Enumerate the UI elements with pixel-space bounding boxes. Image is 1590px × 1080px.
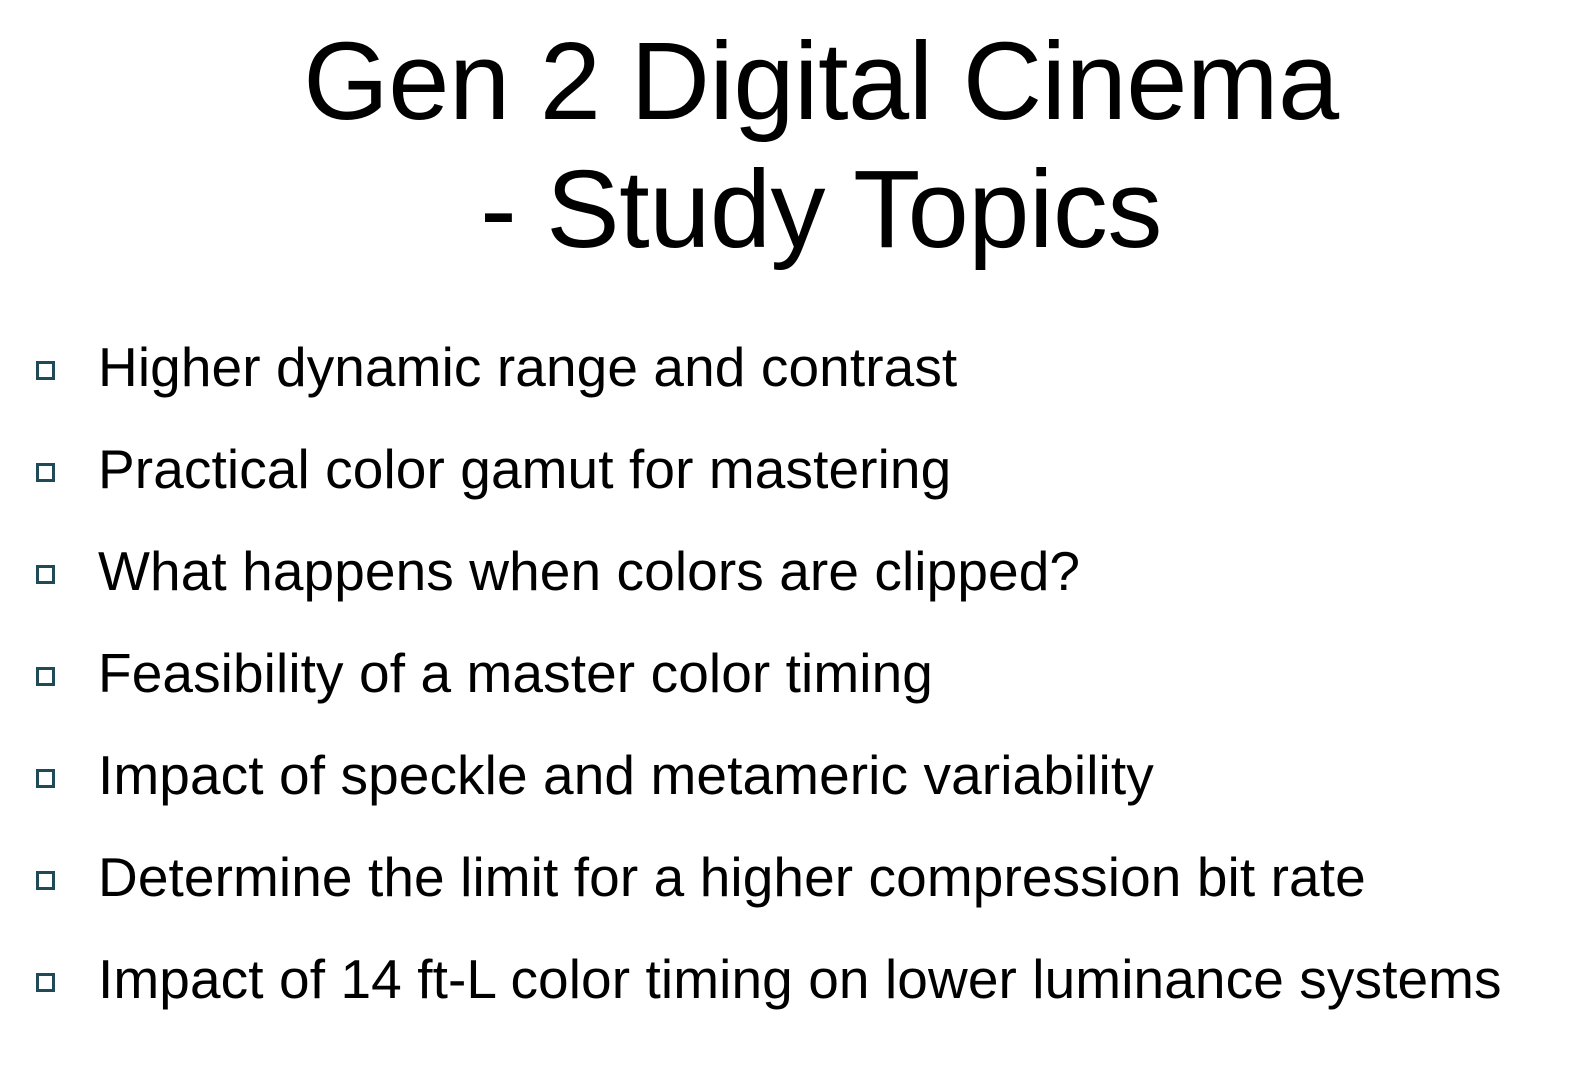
- list-item: What happens when colors are clipped?: [0, 520, 1590, 622]
- hollow-square-bullet-icon: [36, 565, 55, 584]
- hollow-square-bullet-icon: [36, 361, 55, 380]
- slide-title: Gen 2 Digital Cinema - Study Topics: [0, 18, 1590, 274]
- list-item: Practical color gamut for mastering: [0, 418, 1590, 520]
- hollow-square-bullet-icon: [36, 769, 55, 788]
- list-item-label: Feasibility of a master color timing: [98, 642, 933, 704]
- presentation-slide: Gen 2 Digital Cinema - Study Topics High…: [0, 0, 1590, 1080]
- list-item-label: Impact of 14 ft-L color timing on lower …: [98, 948, 1502, 1010]
- list-item: Impact of 14 ft-L color timing on lower …: [0, 928, 1590, 1030]
- list-item-label: Determine the limit for a higher compres…: [98, 846, 1366, 908]
- list-item: Higher dynamic range and contrast: [0, 316, 1590, 418]
- list-item: Impact of speckle and metameric variabil…: [0, 724, 1590, 826]
- slide-title-line-2: - Study Topics: [26, 146, 1590, 274]
- list-item-label: What happens when colors are clipped?: [98, 540, 1080, 602]
- study-topics-list: Higher dynamic range and contrast Practi…: [0, 316, 1590, 1030]
- hollow-square-bullet-icon: [36, 871, 55, 890]
- list-item-label: Impact of speckle and metameric variabil…: [98, 744, 1154, 806]
- list-item-label: Higher dynamic range and contrast: [98, 336, 957, 398]
- list-item: Feasibility of a master color timing: [0, 622, 1590, 724]
- slide-title-line-1: Gen 2 Digital Cinema: [26, 18, 1590, 146]
- list-item-label: Practical color gamut for mastering: [98, 438, 951, 500]
- hollow-square-bullet-icon: [36, 973, 55, 992]
- hollow-square-bullet-icon: [36, 667, 55, 686]
- list-item: Determine the limit for a higher compres…: [0, 826, 1590, 928]
- hollow-square-bullet-icon: [36, 463, 55, 482]
